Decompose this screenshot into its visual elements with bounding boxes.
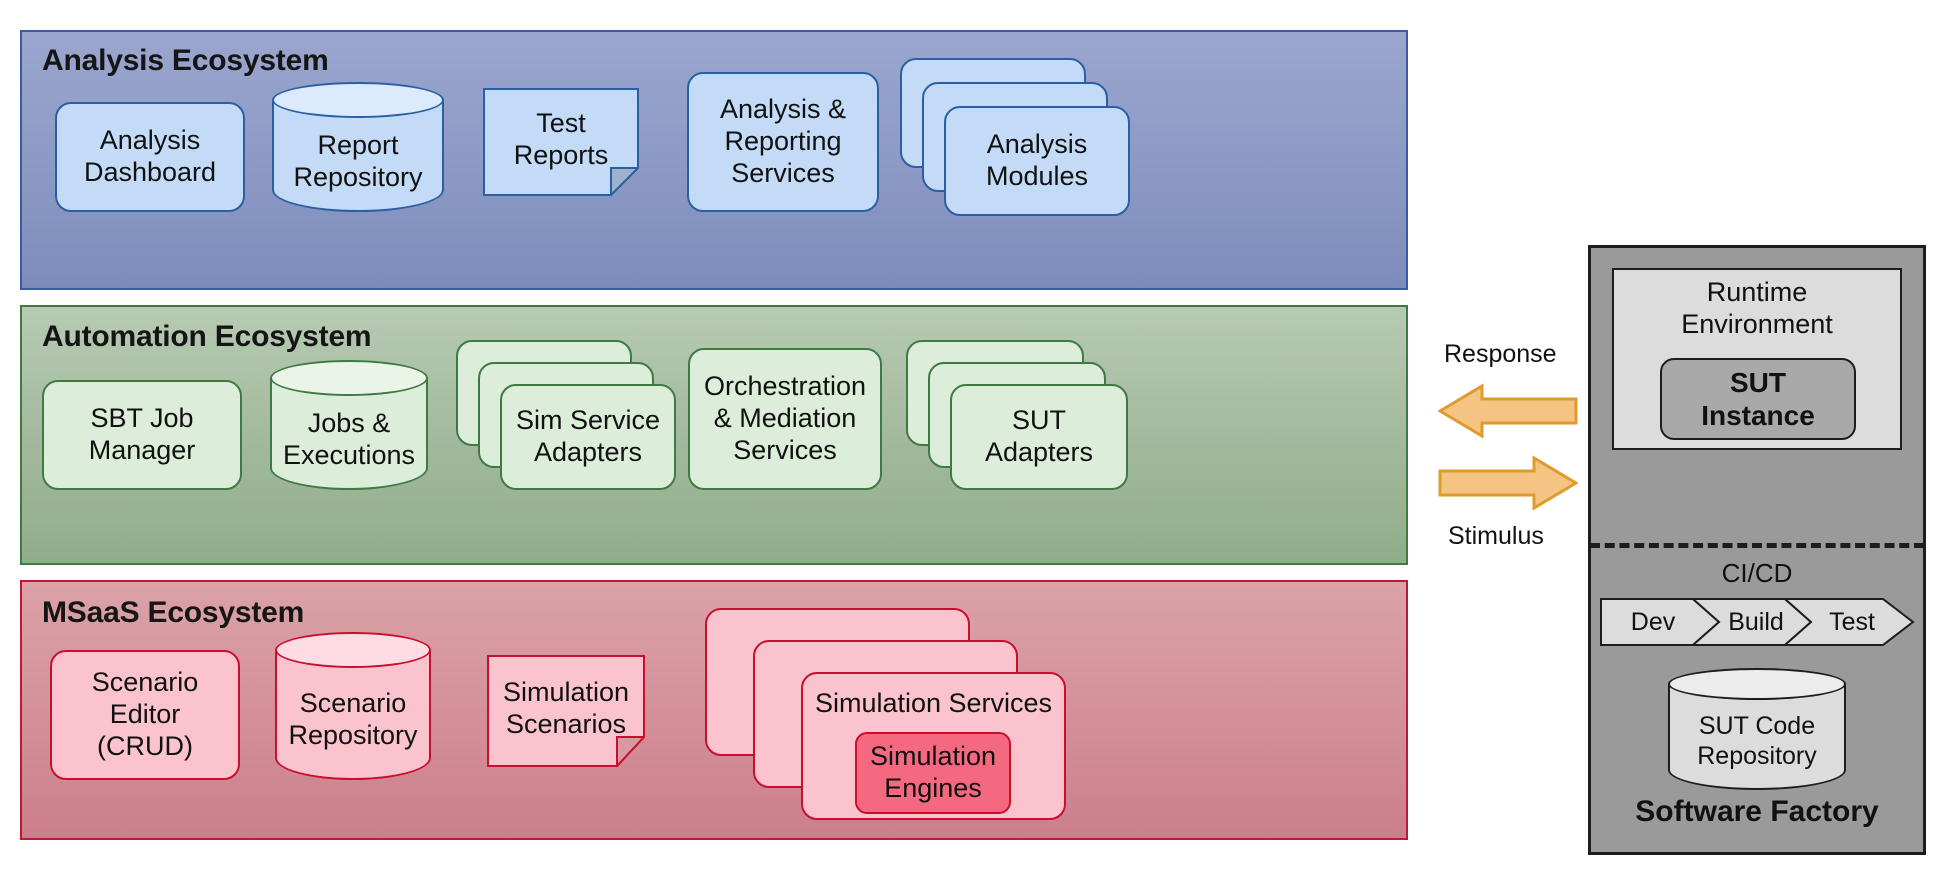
node-analysis-dashboard[interactable]: AnalysisDashboard	[55, 102, 245, 212]
node-label: AnalysisModules	[986, 129, 1088, 193]
cicd-pipeline: Dev Build Test	[1600, 598, 1916, 646]
node-simulation-scenarios[interactable]: SimulationScenarios	[487, 655, 645, 767]
node-analysis-reporting-services[interactable]: Analysis &ReportingServices	[687, 72, 879, 212]
band-title-automation: Automation Ecosystem	[42, 320, 371, 354]
node-sbt-job-manager[interactable]: SBT JobManager	[42, 380, 242, 490]
node-scenario-repository[interactable]: ScenarioRepository	[275, 632, 431, 780]
node-label: TestReports	[483, 108, 639, 172]
node-analysis-modules[interactable]: AnalysisModules	[900, 58, 1130, 216]
node-sut-code-repository[interactable]: SUT CodeRepository	[1668, 668, 1846, 790]
sut-instance-box[interactable]: SUTInstance	[1660, 358, 1856, 440]
node-label: ScenarioEditor(CRUD)	[92, 667, 199, 763]
band-title-msaas: MSaaS Ecosystem	[42, 596, 304, 630]
stack-card-front: Sim ServiceAdapters	[500, 384, 676, 490]
architecture-diagram: Analysis Ecosystem AnalysisDashboard Rep…	[0, 0, 1950, 878]
node-label: ReportRepository	[272, 130, 444, 194]
node-label: SBT JobManager	[89, 403, 196, 467]
stack-card-front: AnalysisModules	[944, 106, 1130, 216]
stage-dev-label[interactable]: Dev	[1600, 598, 1706, 646]
node-sim-service-adapters[interactable]: Sim ServiceAdapters	[456, 340, 676, 490]
node-label: Orchestration& MediationServices	[704, 371, 866, 467]
node-label: Analysis &ReportingServices	[720, 94, 846, 190]
cylinder-top	[270, 360, 428, 396]
node-label: Simulation Services	[801, 688, 1066, 719]
node-label: SimulationEngines	[870, 741, 996, 805]
stage-build-label[interactable]: Build	[1706, 598, 1806, 646]
cylinder-top	[272, 82, 444, 118]
node-simulation-services[interactable]: Simulation Services SimulationEngines	[705, 608, 1065, 830]
stack-card-front: SUTAdapters	[950, 384, 1128, 490]
cylinder-top	[1668, 668, 1846, 700]
node-scenario-editor[interactable]: ScenarioEditor(CRUD)	[50, 650, 240, 780]
node-sut-adapters[interactable]: SUTAdapters	[906, 340, 1128, 490]
band-title-analysis: Analysis Ecosystem	[42, 44, 329, 78]
sut-instance-label: SUTInstance	[1701, 366, 1815, 432]
connector-label-stimulus: Stimulus	[1448, 522, 1544, 551]
node-label: Sim ServiceAdapters	[516, 405, 660, 469]
node-jobs-executions[interactable]: Jobs &Executions	[270, 360, 428, 490]
cicd-label: CI/CD	[1588, 558, 1926, 589]
software-factory-title: Software Factory	[1588, 795, 1926, 829]
node-label: SUT CodeRepository	[1668, 712, 1846, 771]
stimulus-arrow	[1438, 452, 1578, 514]
cylinder-top	[275, 632, 431, 668]
connector-label-response: Response	[1444, 340, 1557, 369]
node-label: Jobs &Executions	[270, 408, 428, 472]
response-arrow	[1438, 380, 1578, 442]
node-label: SimulationScenarios	[487, 677, 645, 741]
node-report-repository[interactable]: ReportRepository	[272, 82, 444, 212]
factory-divider	[1590, 543, 1924, 548]
node-simulation-engines[interactable]: SimulationEngines	[855, 732, 1011, 814]
node-label: ScenarioRepository	[275, 688, 431, 752]
node-test-reports[interactable]: TestReports	[483, 88, 639, 196]
node-label: SUTAdapters	[985, 405, 1093, 469]
node-orchestration-mediation-services[interactable]: Orchestration& MediationServices	[688, 348, 882, 490]
node-label: AnalysisDashboard	[84, 125, 216, 189]
stage-test-label[interactable]: Test	[1802, 598, 1902, 646]
runtime-environment-label: RuntimeEnvironment	[1612, 276, 1902, 341]
